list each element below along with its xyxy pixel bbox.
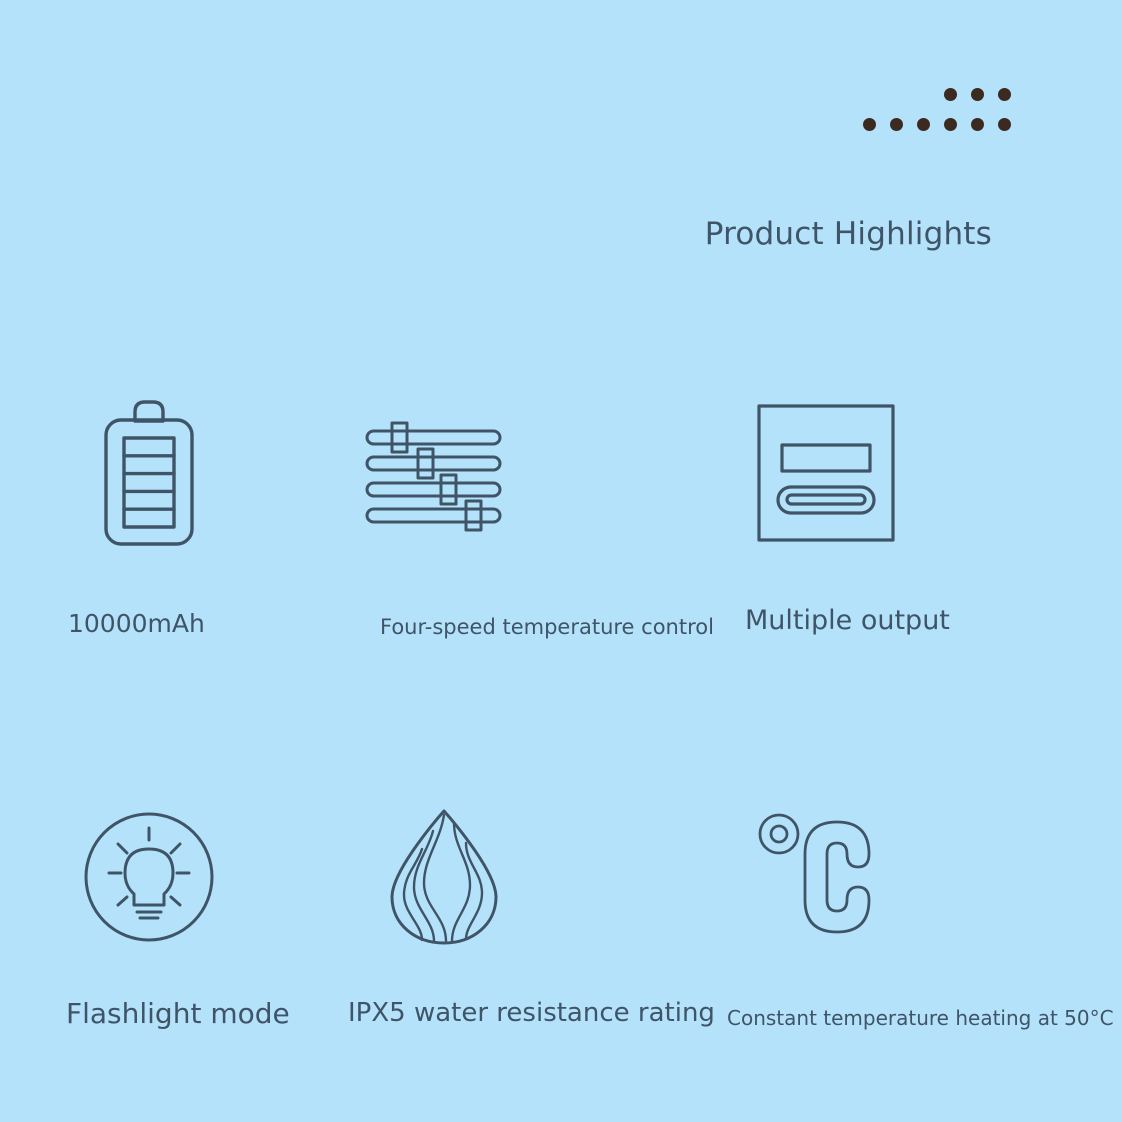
- feature-grid: 10000mAh Four-speed temperature control: [0, 385, 1122, 1028]
- feature-item-battery: 10000mAh: [0, 385, 352, 638]
- sliders-icon: [364, 385, 744, 560]
- feature-label: IPX5 water resistance rating: [348, 1000, 744, 1026]
- dot: [890, 118, 903, 131]
- feature-item-temperature-control: Four-speed temperature control: [352, 385, 744, 638]
- feature-label: Four-speed temperature control: [380, 617, 744, 638]
- usb-ports-icon: [756, 385, 1122, 560]
- dot: [971, 118, 984, 131]
- feature-item-constant-heating: Constant temperature heating at 50°C: [744, 789, 1122, 1028]
- feature-label: 10000mAh: [68, 611, 352, 636]
- feature-item-flashlight: Flashlight mode: [0, 789, 352, 1028]
- water-droplet-icon: [384, 789, 744, 964]
- feature-row: 10000mAh Four-speed temperature control: [0, 385, 1122, 638]
- dot: [998, 118, 1011, 131]
- flashlight-bulb-icon: [83, 789, 352, 964]
- dot: [863, 118, 876, 131]
- feature-item-multiple-output: Multiple output: [744, 385, 1122, 638]
- dot-grid-decoration: [890, 88, 1030, 134]
- feature-label: Multiple output: [745, 607, 1122, 634]
- feature-row: Flashlight mode IPX5 water resistance ra…: [0, 789, 1122, 1028]
- dot: [944, 118, 957, 131]
- battery-icon: [98, 385, 352, 560]
- page-title: Product Highlights: [0, 216, 992, 252]
- feature-label: Flashlight mode: [66, 1000, 352, 1028]
- feature-item-water-resistance: IPX5 water resistance rating: [352, 789, 744, 1028]
- dot: [917, 118, 930, 131]
- dot: [998, 88, 1011, 101]
- dot: [971, 88, 984, 101]
- dot: [944, 88, 957, 101]
- degree-celsius-icon: [757, 789, 1122, 964]
- feature-label: Constant temperature heating at 50°C: [727, 1008, 1122, 1028]
